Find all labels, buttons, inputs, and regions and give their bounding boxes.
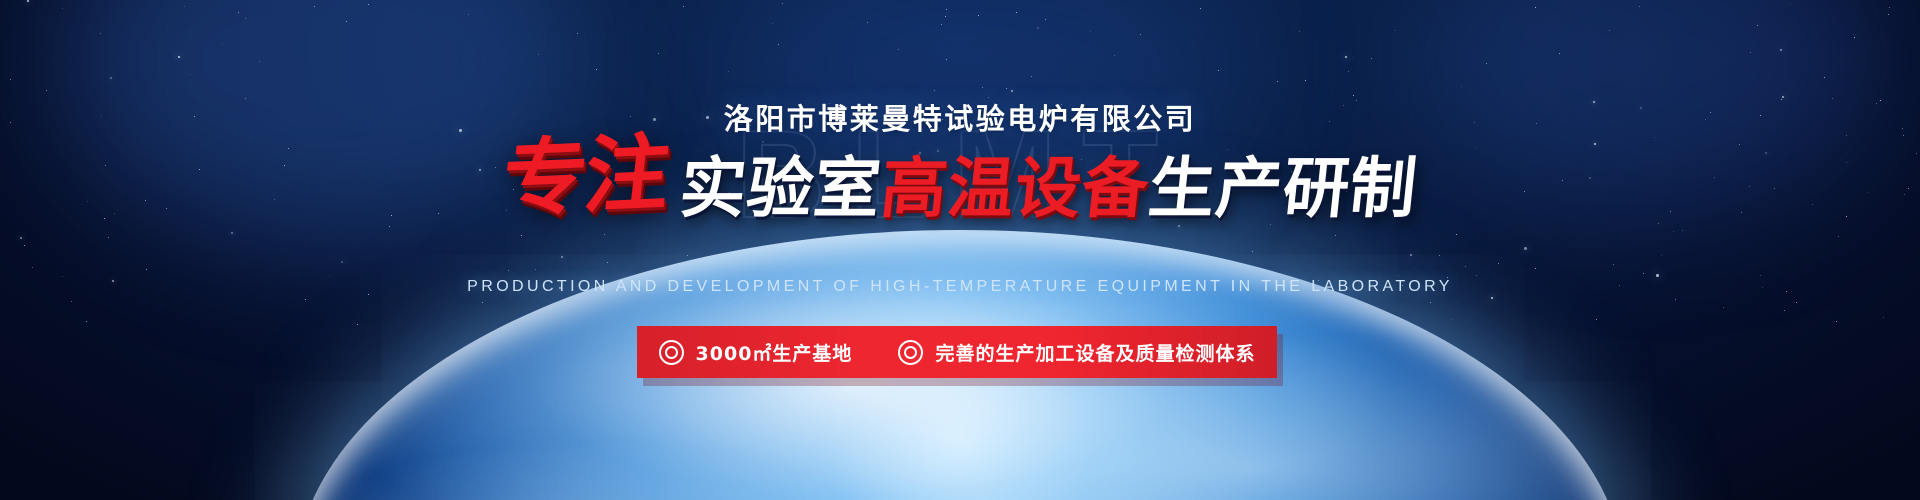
double-circle-icon bbox=[659, 340, 684, 365]
feature-item-2-label: 完善的生产加工设备及质量检测体系 bbox=[935, 339, 1255, 366]
headline-brush-word: 专注 bbox=[498, 130, 673, 221]
company-name: 洛阳市博莱曼特试验电炉有限公司 bbox=[0, 96, 1920, 138]
feature-item-1-label: 3000㎡生产基地 bbox=[696, 339, 853, 366]
double-circle-icon bbox=[898, 340, 923, 365]
feature-item-2: 完善的生产加工设备及质量检测体系 bbox=[898, 339, 1255, 366]
headline-segment-1: 实验室 bbox=[676, 156, 884, 222]
headline: 专注 实验室 高温设备 生产研制 bbox=[0, 134, 1920, 222]
hero-banner: BLMT 洛阳市博莱曼特试验电炉有限公司 专注 实验室 高温设备 生产研制 PR… bbox=[0, 0, 1920, 500]
feature-bar: 3000㎡生产基地 完善的生产加工设备及质量检测体系 bbox=[637, 326, 1277, 378]
feature-item-1: 3000㎡生产基地 bbox=[659, 339, 853, 366]
headline-segment-2: 高温设备 bbox=[877, 156, 1152, 222]
banner-content: 洛阳市博莱曼特试验电炉有限公司 专注 实验室 高温设备 生产研制 PRODUCT… bbox=[0, 0, 1920, 500]
headline-segment-3: 生产研制 bbox=[1145, 156, 1420, 222]
headline-subtitle-english: PRODUCTION AND DEVELOPMENT OF HIGH-TEMPE… bbox=[0, 278, 1920, 296]
